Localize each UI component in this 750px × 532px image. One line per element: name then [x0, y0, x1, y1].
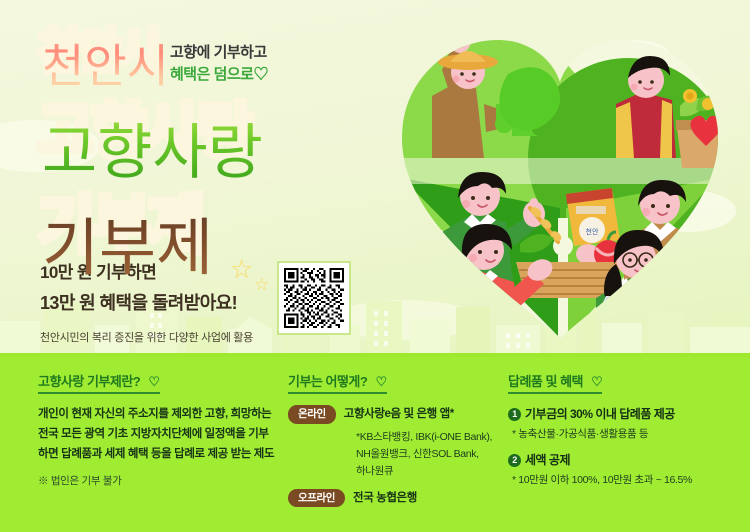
about-column: 고향사랑 기부제란? ♡ 개인이 현재 자신의 주소지를 제외한 고향, 희망하… — [38, 371, 278, 488]
benefit-item-1: 1기부금의 30% 이내 답례품 제공 — [508, 405, 738, 422]
benefit-item-2: 2세액 공제 — [508, 451, 738, 468]
poster: 천안 — [0, 0, 750, 532]
benefit-number-2: 2 — [508, 454, 521, 467]
heart-icon: ♡ — [148, 374, 159, 389]
heart-illustration: 천안 — [380, 8, 740, 353]
benefits-heading: 답례품 및 혜택 ♡ — [508, 371, 602, 394]
offline-text: 전국 농협은행 — [353, 489, 417, 507]
benefits-column: 답례품 및 혜택 ♡ 1기부금의 30% 이내 답례품 제공 * 농축산물·가공… — [508, 371, 738, 497]
offline-badge: 오프라인 — [288, 489, 345, 508]
how-heading-text: 기부는 어떻게? — [288, 374, 367, 389]
benefit-number-1: 1 — [508, 408, 521, 421]
main-title-line1-wrap: 고향사랑 고향사랑 — [38, 102, 368, 193]
qr-code-icon[interactable] — [284, 268, 344, 328]
subheadline-note: 천안시민의 복리 증진을 위한 다양한 사업에 활용 — [40, 329, 253, 345]
top-section: 천안 — [0, 0, 750, 357]
heart-icon: ♡ — [591, 374, 602, 389]
benefit-item-1-sub: * 농축산물·가공식품·생활용품 등 — [512, 426, 738, 441]
how-column: 기부는 어떻게? ♡ 온라인 고향사랑e음 및 은행 앱* *KB스타뱅킹, I… — [288, 371, 503, 512]
subheadline-line2: 13만 원 혜택을 돌려받아요! — [40, 289, 237, 315]
about-body: 개인이 현재 자신의 주소지를 제외한 고향, 희망하는 전국 모든 광역 기초… — [38, 405, 278, 464]
online-badge: 온라인 — [288, 405, 336, 424]
main-title-line2: 기부제 — [38, 195, 217, 289]
online-row: 온라인 고향사랑e음 및 은행 앱* — [288, 405, 503, 424]
benefit-item-2-sub: * 10만원 이하 100%, 10만원 초과 ~ 16.5% — [512, 472, 738, 487]
about-note: ※ 법인은 기부 불가 — [38, 473, 278, 488]
qr-code-box[interactable] — [277, 261, 351, 335]
tagline-line1: 고향에 기부하고 — [170, 42, 268, 64]
online-bank-line2: NH올원뱅크, 신한SOL Bank, — [356, 446, 503, 463]
star-icon: ☆ — [254, 276, 269, 293]
online-text: 고향사랑e음 및 은행 앱* — [344, 405, 454, 423]
svg-text:천안: 천안 — [586, 227, 599, 236]
bottom-info-panel: 고향사랑 기부제란? ♡ 개인이 현재 자신의 주소지를 제외한 고향, 희망하… — [0, 357, 750, 532]
city-title: 천안시 — [38, 28, 173, 98]
benefits-heading-text: 답례품 및 혜택 — [508, 374, 583, 389]
online-bank-list: *KB스타뱅킹, IBK(i-ONE Bank), NH올원뱅크, 신한SOL … — [356, 429, 503, 480]
sparkle-decoration: ☆ ☆ — [228, 256, 280, 302]
main-title-line1: 고향사랑 — [38, 102, 267, 193]
about-heading: 고향사랑 기부제란? ♡ — [38, 371, 160, 394]
benefit-item-1-text: 기부금의 30% 이내 답례품 제공 — [525, 407, 675, 421]
heart-icon: ♡ — [375, 374, 386, 389]
online-bank-line3: 하나원큐 — [356, 463, 503, 480]
about-heading-text: 고향사랑 기부제란? — [38, 374, 140, 389]
tagline: 고향에 기부하고 혜택은 덤으로♡ — [170, 42, 268, 86]
how-heading: 기부는 어떻게? ♡ — [288, 371, 387, 394]
online-bank-line1: *KB스타뱅킹, IBK(i-ONE Bank), — [356, 429, 503, 446]
tagline-line2: 혜택은 덤으로♡ — [170, 64, 268, 86]
star-icon: ☆ — [230, 256, 253, 282]
offline-row: 오프라인 전국 농협은행 — [288, 489, 503, 508]
benefit-item-2-text: 세액 공제 — [525, 453, 570, 467]
